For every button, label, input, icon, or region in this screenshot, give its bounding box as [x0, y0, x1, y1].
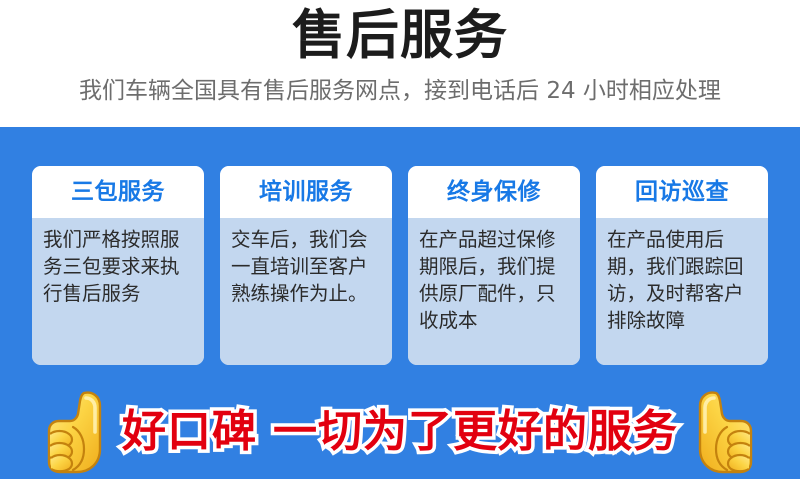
card-header: 回访巡查	[596, 166, 768, 218]
page-title: 售后服务	[292, 9, 508, 62]
page-subtitle: 我们车辆全国具有售后服务网点，接到电话后 24 小时相应处理	[79, 79, 721, 104]
page-header: 售后服务 我们车辆全国具有售后服务网点，接到电话后 24 小时相应处理	[0, 0, 800, 127]
after-sales-service-page: 售后服务 我们车辆全国具有售后服务网点，接到电话后 24 小时相应处理 三包服务…	[0, 0, 800, 479]
service-card-row: 三包服务 我们严格按照服务三包要求来执行售后服务 培训服务 交车后，我们会一直培…	[32, 166, 768, 365]
card-body: 在产品超过保修期限后，我们提供原厂配件，只收成本	[408, 218, 580, 365]
thumbs-up-icon	[686, 387, 760, 477]
service-card-three-guarantees[interactable]: 三包服务 我们严格按照服务三包要求来执行售后服务	[32, 166, 204, 365]
slogan-banner: 好口碑 一切为了更好的服务	[0, 385, 800, 479]
card-body: 交车后，我们会一直培训至客户熟练操作为止。	[220, 218, 392, 365]
service-card-follow-up-inspection[interactable]: 回访巡查 在产品使用后期，我们跟踪回访，及时帮客户排除故障	[596, 166, 768, 365]
card-title: 回访巡查	[635, 181, 729, 204]
service-card-lifetime-warranty[interactable]: 终身保修 在产品超过保修期限后，我们提供原厂配件，只收成本	[408, 166, 580, 365]
card-description: 在产品超过保修期限后，我们提供原厂配件，只收成本	[419, 227, 569, 335]
card-header: 培训服务	[220, 166, 392, 218]
card-title: 培训服务	[259, 181, 353, 204]
slogan-right: 一切为了更好的服务	[273, 410, 678, 454]
card-body: 在产品使用后期，我们跟踪回访，及时帮客户排除故障	[596, 218, 768, 365]
card-title: 三包服务	[71, 181, 165, 204]
card-header: 终身保修	[408, 166, 580, 218]
card-description: 我们严格按照服务三包要求来执行售后服务	[43, 227, 193, 308]
card-description: 在产品使用后期，我们跟踪回访，及时帮客户排除故障	[607, 227, 757, 335]
service-card-training[interactable]: 培训服务 交车后，我们会一直培训至客户熟练操作为止。	[220, 166, 392, 365]
card-header: 三包服务	[32, 166, 204, 218]
slogan-left: 好口碑	[122, 410, 257, 454]
slogan-text-group: 好口碑 一切为了更好的服务	[122, 410, 678, 454]
card-title: 终身保修	[447, 181, 541, 204]
thumbs-up-icon	[40, 387, 114, 477]
card-description: 交车后，我们会一直培训至客户熟练操作为止。	[231, 227, 381, 308]
card-body: 我们严格按照服务三包要求来执行售后服务	[32, 218, 204, 365]
